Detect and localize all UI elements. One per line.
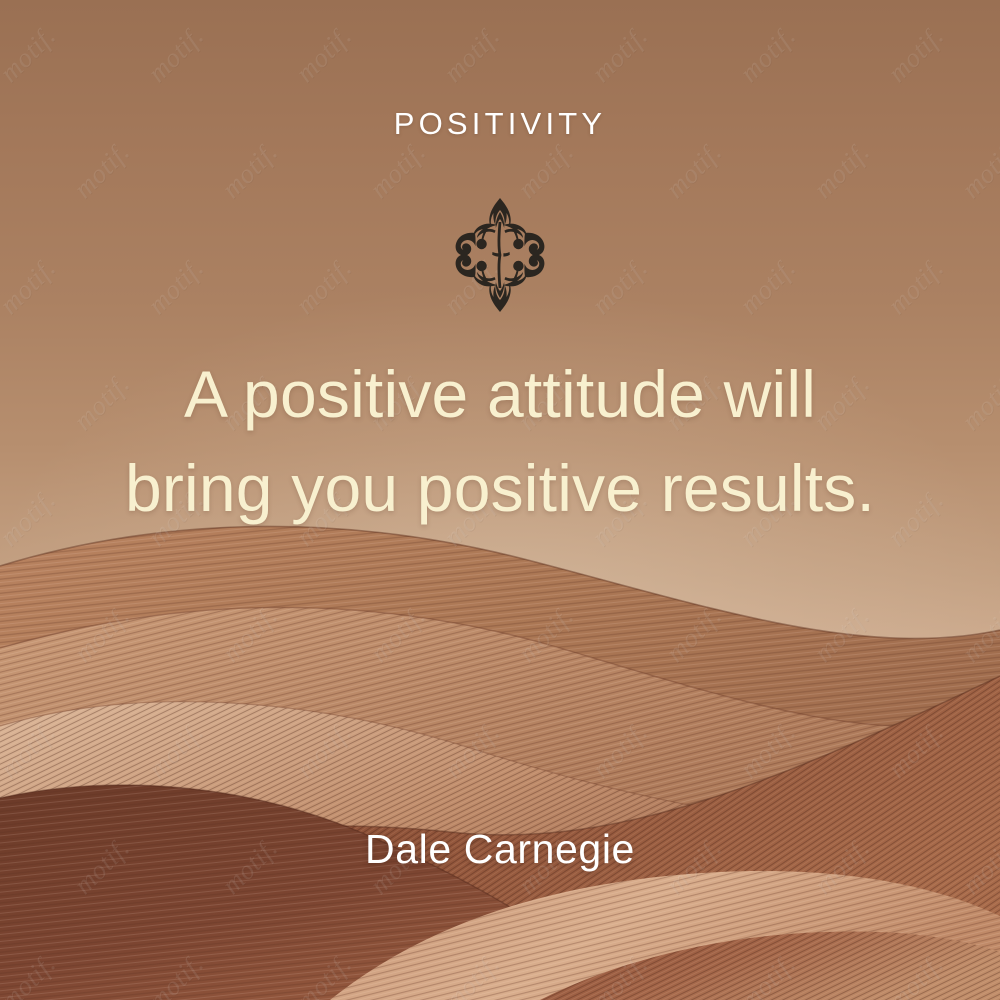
filigree-ornament-icon [442,192,558,318]
quote-text: A positive attitude will bring you posit… [0,348,1000,535]
quote-author: Dale Carnegie [0,826,1000,873]
quote-line-2: bring you positive results. [0,442,1000,536]
category-eyebrow: POSITIVITY [0,106,1000,142]
quote-line-1: A positive attitude will [0,348,1000,442]
quote-card: motif.motif.motif.motif.motif.motif.moti… [0,0,1000,1000]
card-content: POSITIVITY [0,0,1000,1000]
